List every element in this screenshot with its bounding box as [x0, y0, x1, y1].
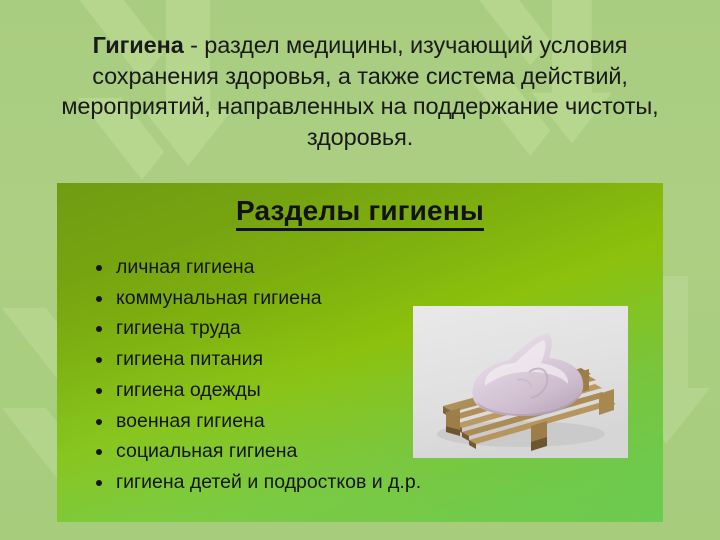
soap-on-dish-photo — [413, 306, 628, 458]
slide-title-lead-word: Гигиена — [93, 32, 184, 58]
list-item: личная гигиена — [57, 252, 663, 283]
list-item: гигиена детей и подростков и д.р. — [57, 467, 663, 498]
slide-title: Гигиена - раздел медицины, изучающий усл… — [30, 30, 690, 152]
slide-canvas: Гигиена - раздел медицины, изучающий усл… — [0, 0, 720, 540]
panel-heading: Разделы гигиены — [57, 183, 663, 231]
soap-illustration — [413, 306, 628, 458]
panel-heading-text: Разделы гигиены — [236, 195, 484, 231]
content-panel: Разделы гигиены личная гигиена коммуналь… — [57, 183, 663, 522]
